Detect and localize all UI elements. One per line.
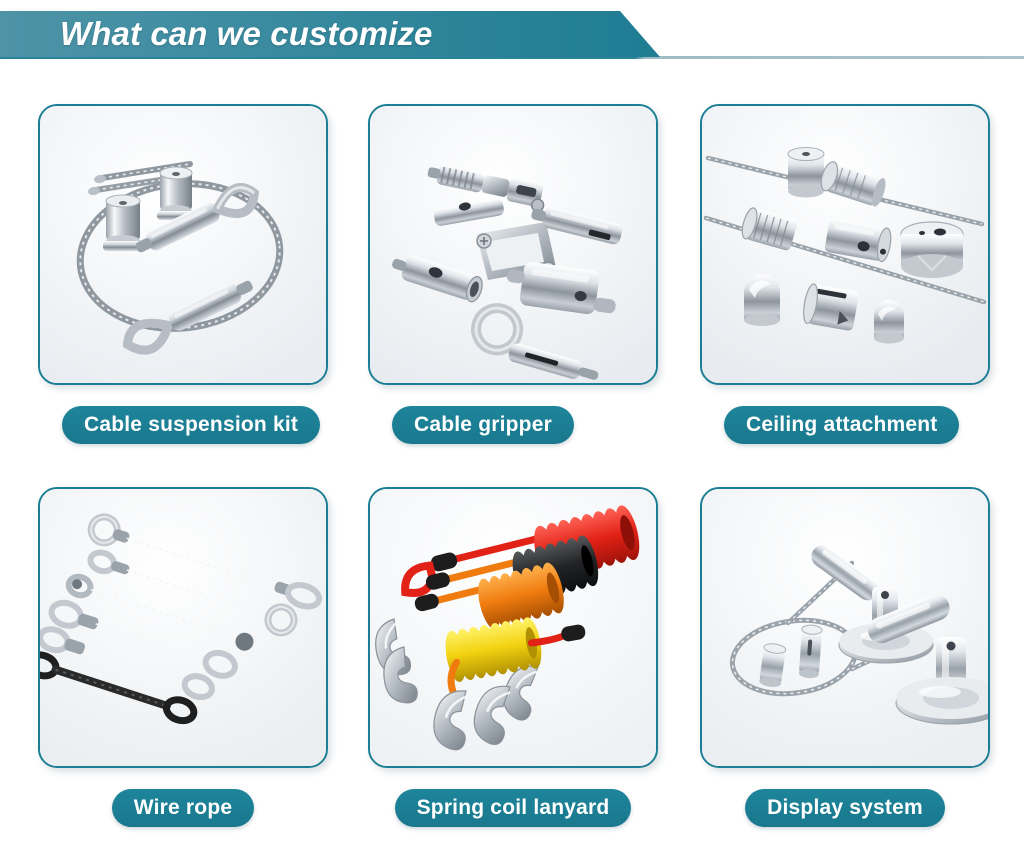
product-showcase-page: What can we customize — [0, 0, 1024, 862]
product-row-2: Wire rope — [0, 487, 1024, 862]
product-label-row: Cable gripper — [368, 385, 658, 444]
product-label-row: Display system — [700, 768, 990, 827]
header-banner: What can we customize — [0, 11, 1024, 59]
product-label-row: Wire rope — [38, 768, 328, 827]
product-image-ceiling-attachment — [700, 104, 990, 385]
product-cell-display-system[interactable]: Display system — [700, 487, 990, 827]
product-cell-spring-coil-lanyard[interactable]: Spring coil lanyard — [368, 487, 658, 827]
product-image-wire-rope — [38, 487, 328, 768]
product-label-cable-suspension-kit[interactable]: Cable suspension kit — [62, 406, 320, 444]
product-label-row: Ceiling attachment — [700, 385, 990, 444]
product-grid: Cable suspension kit — [0, 104, 1024, 862]
product-image-spring-coil-lanyard — [368, 487, 658, 768]
product-image-display-system — [700, 487, 990, 768]
product-cell-cable-gripper[interactable]: Cable gripper — [368, 104, 658, 444]
product-image-cable-suspension-kit — [38, 104, 328, 385]
product-cell-ceiling-attachment[interactable]: Ceiling attachment — [700, 104, 990, 444]
page-title: What can we customize — [60, 15, 433, 53]
product-label-spring-coil-lanyard[interactable]: Spring coil lanyard — [395, 789, 632, 827]
product-label-cable-gripper[interactable]: Cable gripper — [392, 406, 574, 444]
product-image-cable-gripper — [368, 104, 658, 385]
product-label-ceiling-attachment[interactable]: Ceiling attachment — [724, 406, 959, 444]
product-label-wire-rope[interactable]: Wire rope — [112, 789, 254, 827]
product-label-display-system[interactable]: Display system — [745, 789, 945, 827]
product-cell-wire-rope[interactable]: Wire rope — [38, 487, 328, 827]
product-label-row: Cable suspension kit — [38, 385, 328, 444]
product-row-1: Cable suspension kit — [0, 104, 1024, 487]
product-cell-cable-suspension-kit[interactable]: Cable suspension kit — [38, 104, 328, 444]
product-label-row: Spring coil lanyard — [368, 768, 658, 827]
